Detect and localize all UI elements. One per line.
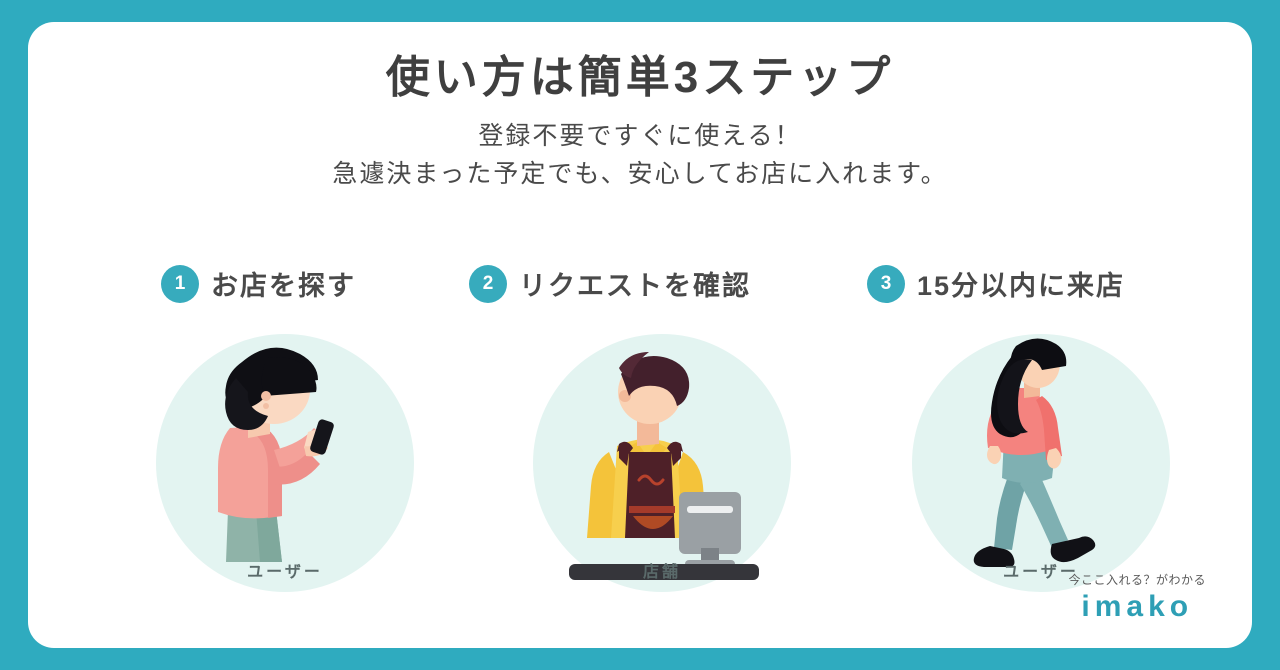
subtitle-line-2: 急遽決まった予定でも、安心してお店に入れます。	[28, 156, 1252, 194]
page-subtitle: 登録不要ですぐに使える！ 急遽決まった予定でも、安心してお店に入れます。	[28, 118, 1252, 193]
shop-staff-illustration	[533, 334, 791, 592]
page-frame: 使い方は簡単3ステップ 登録不要ですぐに使える！ 急遽決まった予定でも、安心して…	[0, 0, 1280, 670]
logo-tagline: 今ここ入れる？がわかる	[1068, 571, 1206, 588]
step-header-2: 2 リクエストを確認	[469, 264, 751, 303]
subtitle-line-1: 登録不要ですぐに使える！	[28, 118, 1252, 156]
walking-woman-illustration	[912, 334, 1170, 592]
scene-label-2: 店舗	[533, 558, 791, 582]
logo-wordmark: imako	[1068, 590, 1206, 624]
content-card: 使い方は簡単3ステップ 登録不要ですぐに使える！ 急遽決まった予定でも、安心して…	[28, 22, 1252, 648]
scene-shop-staff: 店舗	[533, 334, 791, 592]
page-title: 使い方は簡単3ステップ	[28, 54, 1252, 102]
step-label-3: 15分以内に来店	[917, 264, 1125, 303]
step-number-badge-1: 1	[161, 265, 199, 303]
scene-label-1: ユーザー	[156, 558, 414, 582]
step-number-badge-2: 2	[469, 265, 507, 303]
step-header-1: 1 お店を探す	[161, 264, 356, 303]
scene-user-walking: ユーザー	[912, 334, 1170, 592]
steps-header-row: 1 お店を探す 2 リクエストを確認 3 15分以内に来店	[28, 264, 1252, 314]
brand-logo: 今ここ入れる？がわかる imako	[1068, 571, 1206, 624]
woman-with-phone-illustration	[156, 334, 414, 592]
step-label-2: リクエストを確認	[519, 264, 751, 303]
step-label-1: お店を探す	[211, 264, 356, 303]
scene-user-phone: ユーザー	[156, 334, 414, 592]
step-number-badge-3: 3	[867, 265, 905, 303]
step-header-3: 3 15分以内に来店	[867, 264, 1125, 303]
